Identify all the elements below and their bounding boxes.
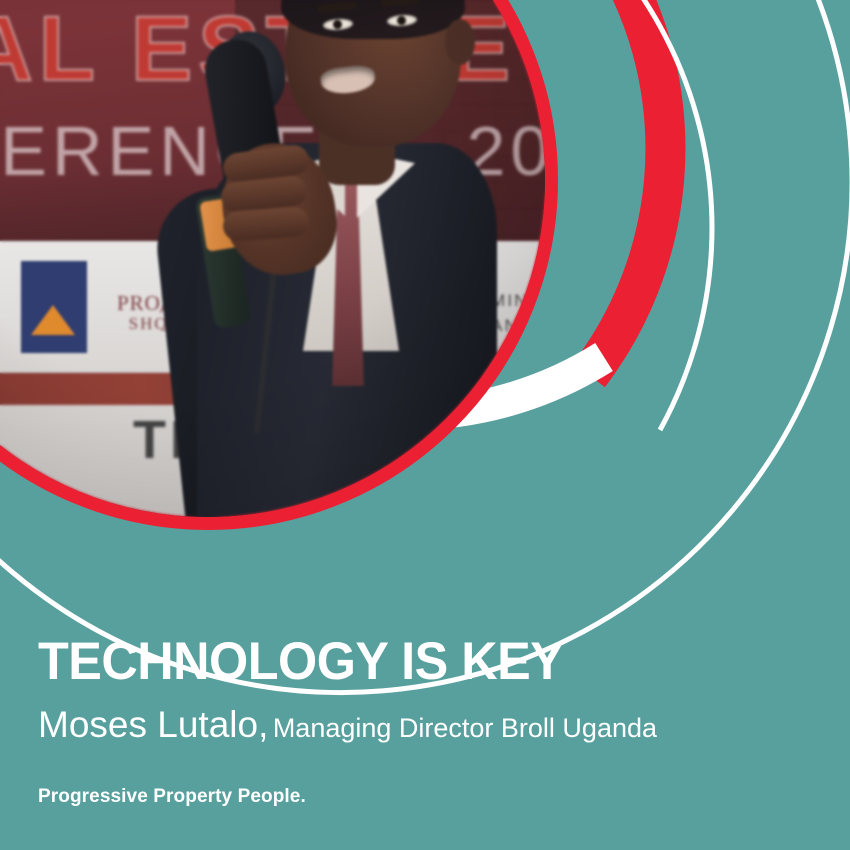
- headline: TECHNOLOGY IS KEY: [38, 635, 789, 688]
- speaker-photo-circle: EAL ESTATE NFERENCE 2021 PROPERTY SHOW E…: [0, 0, 558, 530]
- social-media-card: EAL ESTATE NFERENCE 2021 PROPERTY SHOW E…: [0, 0, 850, 850]
- caption-block: TECHNOLOGY IS KEY Moses Lutalo, Managing…: [38, 635, 828, 808]
- ear: [445, 19, 475, 65]
- tagline: Progressive Property People.: [38, 786, 828, 808]
- speaker-name: Moses Lutalo,: [38, 704, 268, 745]
- speaker-figure: [0, 0, 545, 517]
- finger: [222, 206, 310, 242]
- speaker-role: Managing Director Broll Uganda: [273, 713, 657, 743]
- speaker-line: Moses Lutalo, Managing Director Broll Ug…: [38, 704, 828, 746]
- speaker-photo: EAL ESTATE NFERENCE 2021 PROPERTY SHOW E…: [0, 0, 545, 517]
